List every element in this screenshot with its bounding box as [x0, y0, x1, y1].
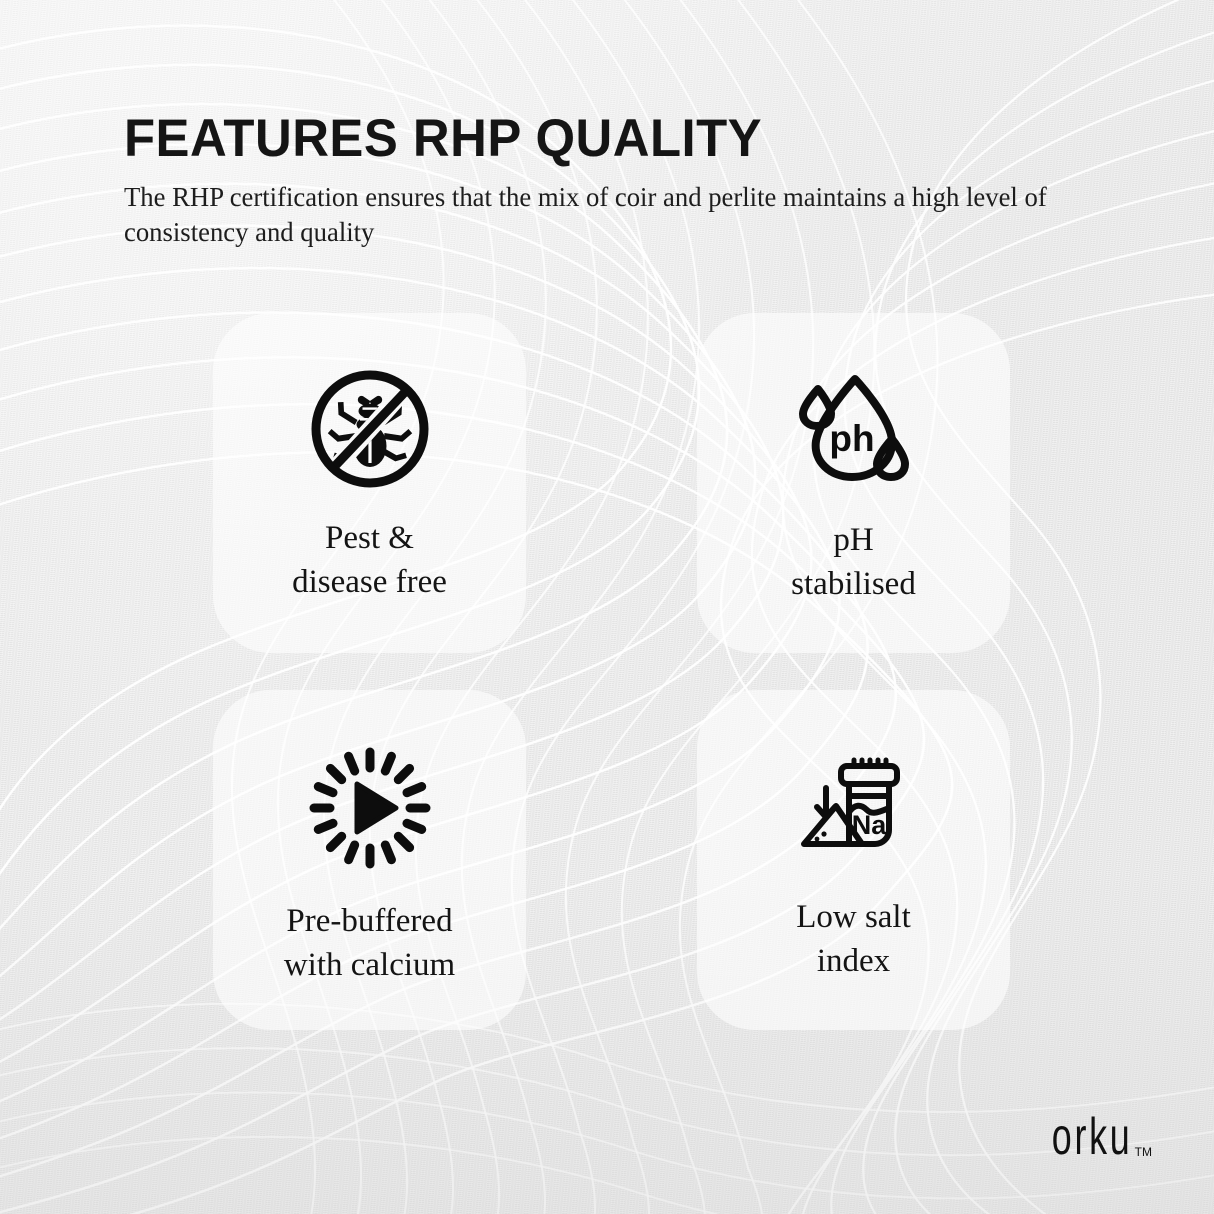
salt-shaker-na-icon: Na [792, 744, 916, 868]
ph-icon-text: ph [829, 418, 874, 459]
ph-droplet-icon: ph [792, 367, 916, 491]
feature-card-low-salt-index[interactable]: Na Low salt index [697, 690, 1010, 1030]
salt-speckle [814, 837, 819, 842]
salt-speckle [821, 831, 826, 836]
feature-card-pest-disease-free[interactable]: Pest & disease free [213, 313, 526, 653]
feature-label: Low salt index [796, 896, 911, 983]
header-block: FEATURES RHP QUALITY The RHP certificati… [124, 112, 1114, 249]
feature-card-pre-buffered-calcium[interactable]: Pre-buffered with calcium [213, 690, 526, 1030]
na-icon-text: Na [851, 810, 886, 840]
no-pest-icon [308, 367, 432, 491]
page-title: FEATURES RHP QUALITY [124, 112, 1074, 165]
feature-card-ph-stabilised[interactable]: ph pH stabilised [697, 313, 1010, 653]
brand-wordmark: orku [1052, 1113, 1133, 1162]
feature-label: pH stabilised [791, 519, 916, 606]
trademark-symbol: TM [1135, 1145, 1152, 1159]
play-triangle [357, 784, 396, 832]
poster-canvas: FEATURES RHP QUALITY The RHP certificati… [0, 0, 1214, 1214]
page-subtitle: The RHP certification ensures that the m… [124, 179, 1060, 249]
brand-logo: orku TM [1029, 1118, 1152, 1162]
play-buffering-icon [308, 746, 432, 870]
feature-label: Pest & disease free [292, 517, 447, 604]
features-grid: Pest & disease free ph pH [213, 313, 997, 1030]
feature-label: Pre-buffered with calcium [284, 900, 455, 987]
